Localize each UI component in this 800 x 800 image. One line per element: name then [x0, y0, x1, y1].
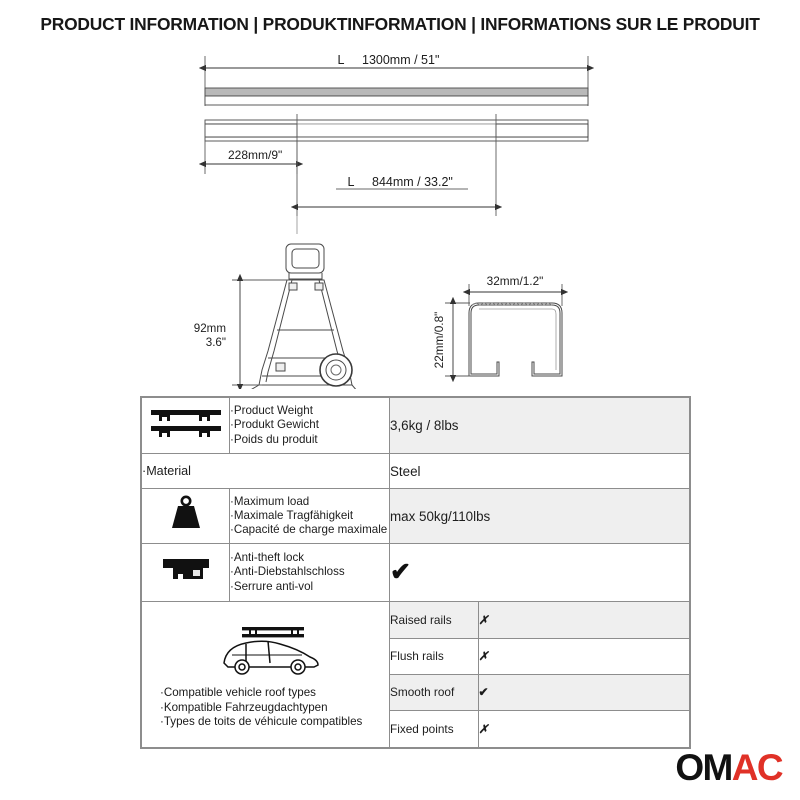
- table-row-max-load: ·Maximum load ·Maximale Tragfähigkeit ·C…: [142, 489, 690, 544]
- weight-label-de: ·Produkt Gewicht: [230, 418, 389, 432]
- compat-item-flush-rails: Flush rails ✗: [390, 638, 689, 674]
- crossbars-icon: [142, 398, 230, 454]
- compat-item-smooth-roof: Smooth roof ✔: [390, 674, 689, 710]
- compat-item-fixed-points: Fixed points ✗: [390, 711, 689, 747]
- page-header: PRODUCT INFORMATION | PRODUKTINFORMATION…: [0, 14, 800, 35]
- weight-value: 3,6kg / 8lbs: [390, 398, 690, 454]
- logo-text-ac: AC: [732, 747, 782, 788]
- lock-labels: ·Anti-theft lock ·Anti-Diebstahlschloss …: [230, 544, 390, 602]
- foot-height-inch-value: 3.6": [206, 336, 226, 349]
- span-symbol: L: [348, 175, 355, 189]
- max-load-value: max 50kg/110lbs: [390, 489, 690, 544]
- max-load-label-en: ·Maximum load: [230, 495, 389, 509]
- compatibility-list: Raised rails ✗ Flush rails ✗ Smooth roof…: [390, 602, 690, 748]
- profile-width-value: 32mm/1.2": [487, 274, 544, 288]
- compat-mark-flush-rails: ✗: [478, 638, 689, 674]
- table-row-weight: ·Product Weight ·Produkt Gewicht ·Poids …: [142, 398, 690, 454]
- compat-label-en: ·Compatible vehicle roof types: [160, 686, 383, 700]
- lock-label-en: ·Anti-theft lock: [230, 551, 389, 565]
- foot-offset-value: 228mm/9": [228, 148, 282, 162]
- car-roofrack-icon: [142, 619, 389, 684]
- compat-name-flush-rails: Flush rails: [390, 638, 478, 674]
- material-value: Steel: [390, 454, 690, 489]
- drawing-svg: L 1300mm / 51" 228mm/9" L 844mm / 33.2" …: [0, 44, 800, 389]
- technical-drawing: L 1300mm / 51" 228mm/9" L 844mm / 33.2" …: [0, 44, 800, 389]
- max-load-labels: ·Maximum load ·Maximale Tragfähigkeit ·C…: [230, 489, 390, 544]
- lock-label-fr: ·Serrure anti-vol: [230, 580, 389, 594]
- car-roofrack-icon-svg: [202, 619, 330, 679]
- compat-name-fixed-points: Fixed points: [390, 711, 478, 747]
- compatibility-description: ·Compatible vehicle roof types ·Kompatib…: [142, 602, 390, 748]
- foot-height-value: 92mm: [194, 322, 226, 335]
- table-row-anti-theft-lock: ·Anti-theft lock ·Anti-Diebstahlschloss …: [142, 544, 690, 602]
- omac-logo: OMAC: [675, 749, 782, 786]
- lock-icon-svg: [159, 555, 213, 585]
- compat-mark-smooth-roof: ✔: [478, 674, 689, 710]
- compat-item-raised-rails: Raised rails ✗: [390, 602, 689, 638]
- profile-height-value: 22mm/0.8": [432, 312, 446, 369]
- weight-label-fr: ·Poids du produit: [230, 433, 389, 447]
- specification-table: ·Product Weight ·Produkt Gewicht ·Poids …: [140, 396, 691, 749]
- material-label: ·Material: [142, 454, 390, 489]
- compatibility-labels: ·Compatible vehicle roof types ·Kompatib…: [142, 684, 389, 729]
- lock-checkmark: ✔: [390, 558, 411, 586]
- max-load-label-de: ·Maximale Tragfähigkeit: [230, 509, 389, 523]
- lock-value: ✔: [390, 544, 690, 602]
- weight-labels: ·Product Weight ·Produkt Gewicht ·Poids …: [230, 398, 390, 454]
- compat-mark-raised-rails: ✗: [478, 602, 689, 638]
- compat-name-smooth-roof: Smooth roof: [390, 674, 478, 710]
- bar-length-symbol: L: [338, 53, 345, 67]
- max-load-label-fr: ·Capacité de charge maximale: [230, 523, 389, 537]
- lock-icon: [142, 544, 230, 602]
- compat-mark-fixed-points: ✗: [478, 711, 689, 747]
- compat-name-raised-rails: Raised rails: [390, 602, 478, 638]
- weight-label-en: ·Product Weight: [230, 404, 389, 418]
- table-row-compatibility: ·Compatible vehicle roof types ·Kompatib…: [142, 602, 690, 748]
- crossbars-icon-svg: [149, 406, 223, 440]
- weight-icon: [142, 489, 230, 544]
- logo-text-om: OM: [675, 747, 731, 788]
- compat-label-fr: ·Types de toits de véhicule compatibles: [160, 715, 383, 729]
- table-row-material: ·Material Steel: [142, 454, 690, 489]
- weight-icon-svg: [166, 494, 206, 534]
- lock-label-de: ·Anti-Diebstahlschloss: [230, 565, 389, 579]
- bar-length-value: 1300mm / 51": [362, 53, 439, 67]
- span-value: 844mm / 33.2": [372, 175, 453, 189]
- page-title: PRODUCT INFORMATION | PRODUKTINFORMATION…: [0, 14, 800, 35]
- compat-label-de: ·Kompatible Fahrzeugdachtypen: [160, 701, 383, 715]
